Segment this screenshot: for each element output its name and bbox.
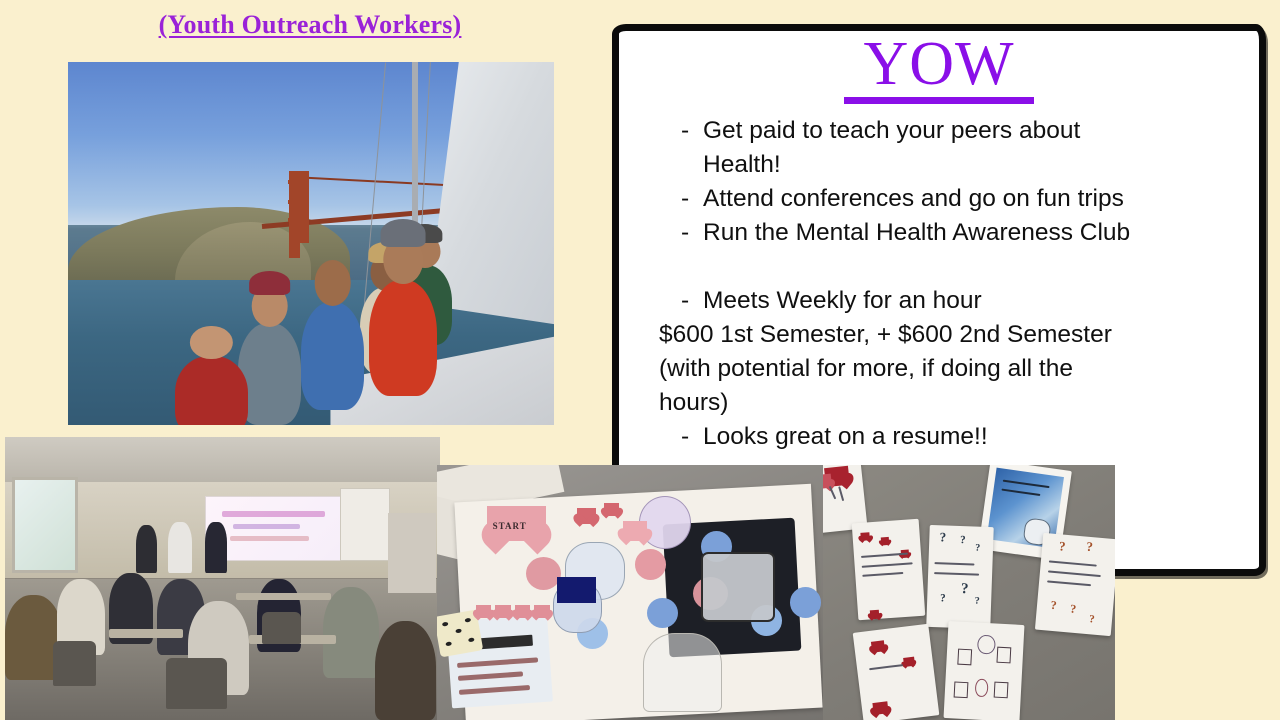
slide-text-line — [230, 536, 308, 541]
desk — [236, 593, 332, 600]
handwriting-line — [862, 572, 904, 577]
bridge-crossbar — [288, 200, 304, 204]
presenter — [168, 522, 192, 573]
ceiling — [5, 437, 440, 482]
heart-decoration — [534, 605, 550, 618]
question-mark-icon: ? — [940, 593, 946, 605]
bullet-dash: - — [681, 182, 703, 216]
question-mark-icon: ? — [939, 530, 946, 546]
list-item: ? ? ? ? ? — [1035, 533, 1115, 636]
slide-canvas: (Youth Outreach Workers) — [0, 0, 1280, 720]
benefits-list: -Get paid to teach your peers about Heal… — [619, 104, 1259, 250]
question-mark-icon: ? — [1070, 602, 1077, 617]
bullet-dash: - — [681, 420, 703, 454]
yow-heading: YOW — [619, 33, 1259, 95]
list-item — [943, 621, 1024, 720]
list-item-label: Get paid to teach your peers about — [703, 117, 1080, 144]
doodle-icon — [977, 634, 995, 654]
student — [375, 621, 436, 720]
question-mark-icon: ? — [975, 543, 980, 554]
heart-decoration — [476, 605, 492, 618]
heart-decoration — [623, 521, 646, 541]
handwriting-line — [1048, 561, 1097, 567]
dice-pip — [468, 637, 475, 642]
handwriting-line — [1048, 571, 1101, 578]
list-item — [853, 624, 940, 720]
doodle-icon — [953, 682, 968, 698]
dice-pip — [442, 621, 449, 626]
bullet-dash: - — [681, 114, 703, 148]
student — [323, 587, 380, 678]
stipend-note-line: (with potential for more, if doing all t… — [659, 352, 1243, 386]
board-space — [647, 598, 678, 629]
slide-text-line — [233, 524, 300, 529]
character-standee — [701, 552, 775, 622]
heart-decoration — [903, 657, 915, 667]
list-item: ? ? ? ? ? ? — [926, 525, 994, 629]
crew-member — [369, 280, 437, 396]
heart-decoration — [577, 508, 596, 523]
question-mark-icon: ? — [1089, 613, 1096, 625]
handwriting-line — [935, 562, 975, 565]
board-space — [790, 587, 821, 618]
game-rules-line — [459, 685, 530, 695]
window — [12, 477, 79, 574]
question-mark-icon: ? — [1058, 539, 1066, 556]
question-mark-icon: ? — [1086, 539, 1094, 556]
heart-decoration — [495, 605, 511, 618]
list-item: -Run the Mental Health Awareness Club — [681, 216, 1243, 250]
list-item-continuation: Health! — [681, 148, 1243, 182]
dice-pip — [455, 629, 462, 634]
start-label: START — [493, 521, 527, 531]
game-rules-line — [458, 672, 523, 681]
photo-classroom-presentation — [5, 437, 440, 720]
photo-sailing-trip — [68, 62, 554, 425]
photo-game-cards: ? ? ? ? ? ? ? ? ? ? ? — [823, 465, 1115, 720]
list-item: -Get paid to teach your peers about — [681, 114, 1243, 148]
presenter — [136, 525, 158, 573]
crew-member — [175, 356, 248, 425]
handwriting-line — [861, 562, 912, 568]
photo-board-game: START — [437, 465, 825, 720]
stipend-note-line-2: hours) — [659, 386, 1243, 420]
game-rules-line — [457, 657, 538, 668]
start-heart-space: START — [487, 506, 545, 552]
handwriting-line — [869, 664, 902, 670]
heart-decoration — [870, 610, 880, 619]
question-mark-icon: ? — [975, 596, 980, 607]
chair — [53, 641, 97, 686]
list-item-label: Meets Weekly for an hour — [703, 287, 982, 314]
cupcake-standee — [643, 633, 723, 712]
list-item-label: Attend conferences and go on fun trips — [703, 185, 1124, 212]
chair — [166, 658, 227, 709]
heart-decoration — [881, 537, 890, 545]
bulletin-board — [340, 488, 390, 561]
list-item: -Meets Weekly for an hour — [681, 284, 1243, 318]
bridge-crossbar — [288, 180, 304, 184]
bullet-dash: - — [681, 216, 703, 250]
balloon-string — [839, 486, 845, 501]
doodle-icon — [975, 679, 989, 697]
balloon-string — [829, 486, 836, 499]
presenter — [205, 522, 227, 573]
bookshelf — [388, 513, 436, 592]
board-space — [635, 549, 666, 580]
list-item-label: Health! — [703, 151, 781, 178]
list-item: -Attend conferences and go on fun trips — [681, 182, 1243, 216]
board-space — [526, 557, 561, 590]
yow-heading-underline — [844, 97, 1034, 104]
list-item-label: Run the Mental Health Awareness Club — [703, 219, 1130, 246]
desk — [109, 629, 183, 637]
bridge-crossbar — [288, 218, 304, 222]
heart-decoration — [872, 701, 889, 716]
crew-member — [301, 302, 364, 411]
list-item-label: Looks great on a resume!! — [703, 423, 988, 450]
question-mark-icon: ? — [961, 581, 969, 598]
list-item — [852, 519, 926, 620]
doodle-icon — [996, 647, 1011, 663]
stipend-line: $600 1st Semester, + $600 2nd Semester — [659, 318, 1243, 352]
question-mark-icon: ? — [1050, 598, 1057, 613]
question-mark-icon: ? — [960, 534, 966, 546]
heart-decoration — [861, 532, 871, 541]
doodle-icon — [993, 682, 1008, 698]
list-item: -Looks great on a resume!! — [681, 420, 1243, 454]
slide-text-line — [222, 511, 324, 517]
heart-decoration — [871, 640, 886, 653]
chair — [262, 612, 301, 643]
handwriting-line — [1047, 580, 1091, 586]
dice-pip — [464, 617, 471, 622]
heart-decoration — [515, 605, 531, 618]
doodle-icon — [957, 649, 972, 665]
handwriting-line — [935, 572, 980, 576]
bullet-dash: - — [681, 284, 703, 318]
compensation-list: -Meets Weekly for an hour $600 1st Semes… — [619, 284, 1259, 454]
dice-pip — [445, 641, 452, 646]
heart-standee — [557, 577, 596, 603]
page-title: (Youth Outreach Workers) — [0, 10, 620, 40]
heart-decoration — [604, 503, 620, 516]
